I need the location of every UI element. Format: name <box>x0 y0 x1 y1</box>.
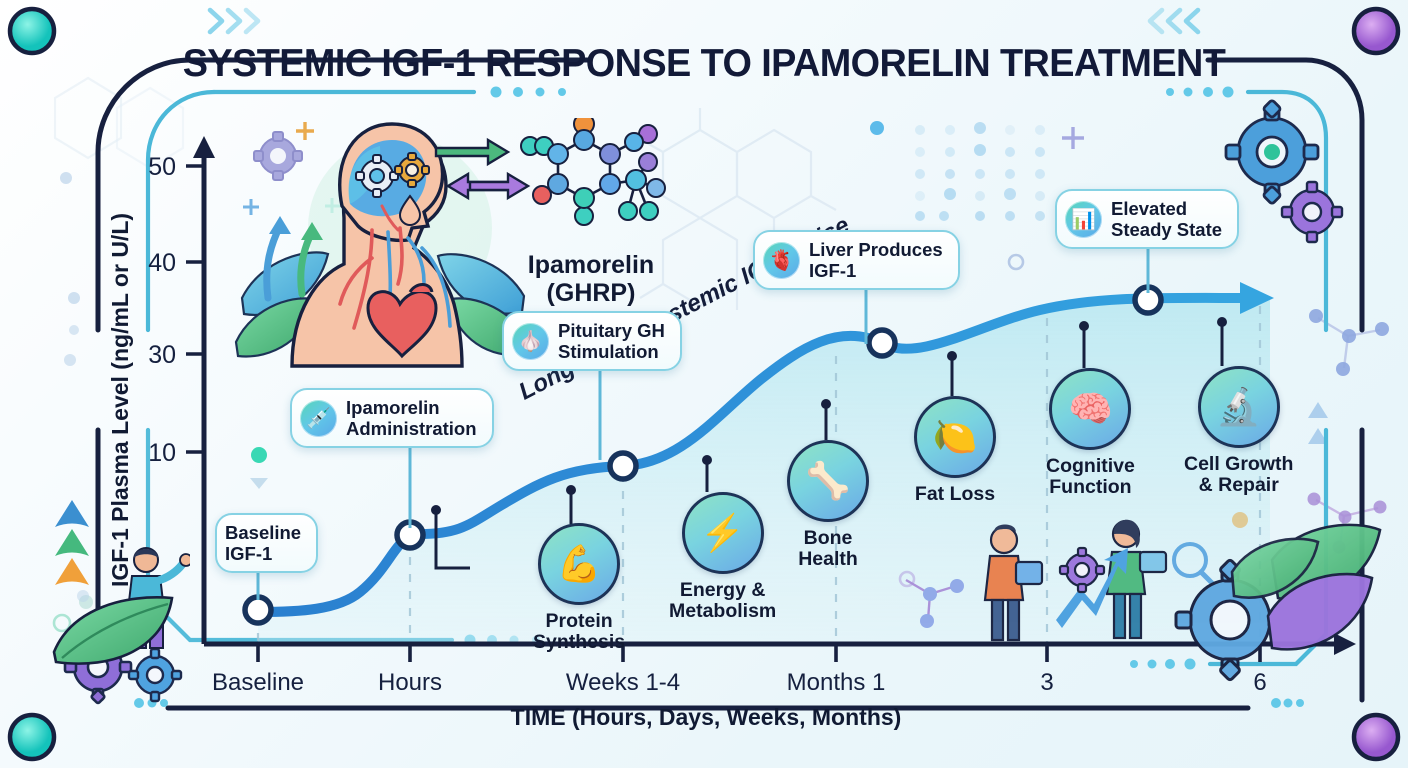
energy-icon: ⚡ <box>682 492 764 574</box>
pituitary-icon: 🧄 <box>512 323 549 360</box>
benefit-label: Cell Growth & Repair <box>1184 454 1293 497</box>
y-tick-label-0: 50 <box>148 153 176 181</box>
curve-marker-baseline <box>245 597 271 623</box>
muscle-icon: 💪 <box>538 523 620 605</box>
callout-liver-igf1[interactable]: 🫀 Liver Produces IGF-1 <box>753 230 960 290</box>
y-axis-title: IGF-1 Plasma Level (ng/mL or U/L) <box>107 213 133 587</box>
callout-pituitary-gh[interactable]: 🧄 Pituitary GH Stimulation <box>502 311 682 371</box>
callout-label: Baseline IGF-1 <box>225 522 301 564</box>
benefit-label: Protein Synthesis <box>533 611 625 654</box>
callout-label: Ipamorelin Administration <box>346 397 477 439</box>
benefit-protein-synthesis[interactable]: 💪 Protein Synthesis <box>533 523 625 654</box>
y-tick-marks <box>186 166 204 452</box>
x-tick-label-0: Baseline <box>212 669 304 696</box>
benefit-label: Bone Health <box>798 528 858 571</box>
benefit-label: Energy & Metabolism <box>669 580 776 623</box>
x-axis-arrow <box>1334 633 1356 655</box>
y-tick-label-3: 10 <box>148 439 176 467</box>
liver-icon: 🫀 <box>763 242 800 279</box>
y-tick-label-2: 30 <box>148 341 176 369</box>
x-tick-label-1: Hours <box>378 669 442 696</box>
benefit-cell-growth[interactable]: 🔬 Cell Growth & Repair <box>1184 366 1293 497</box>
x-tick-label-4: 3 <box>1040 669 1053 696</box>
callout-label: Liver Produces IGF-1 <box>809 239 943 281</box>
callout-label: Elevated Steady State <box>1111 198 1222 240</box>
benefit-label: Fat Loss <box>915 484 995 505</box>
benefit-cognitive-function[interactable]: 🧠 Cognitive Function <box>1046 368 1135 499</box>
x-tick-label-2: Weeks 1-4 <box>566 669 680 696</box>
cells-icon: 🔬 <box>1198 366 1280 448</box>
infographic-canvas: SYSTEMIC IGF-1 RESPONSE TO IPAMORELIN TR… <box>0 0 1408 768</box>
y-tick-label-1: 40 <box>148 249 176 277</box>
callout-baseline-igf1[interactable]: Baseline IGF-1 <box>215 513 318 573</box>
brain-icon: 🧠 <box>1049 368 1131 450</box>
curve-marker-months1 <box>869 330 895 356</box>
benefit-label: Cognitive Function <box>1046 456 1135 499</box>
molecule-icon <box>496 118 686 244</box>
ipamorelin-molecule-block: Ipamorelin (GHRP) <box>496 118 686 307</box>
human-anatomy-illustration <box>232 98 532 368</box>
y-axis-arrow <box>193 136 215 158</box>
callout-steady-state[interactable]: 📊 Elevated Steady State <box>1055 189 1239 249</box>
x-axis-title: TIME (Hours, Days, Weeks, Months) <box>511 704 902 730</box>
curve-marker-weeks <box>610 453 636 479</box>
benefit-fat-loss[interactable]: 🍋 Fat Loss <box>914 396 996 505</box>
callout-ipamorelin-admin[interactable]: 💉 Ipamorelin Administration <box>290 388 494 448</box>
callout-label: Pituitary GH Stimulation <box>558 320 665 362</box>
bone-icon: 🦴 <box>787 440 869 522</box>
x-tick-label-3: Months 1 <box>787 669 886 696</box>
x-tick-label-5: 6 <box>1253 669 1266 696</box>
x-tick-marks <box>258 644 1260 662</box>
ipamorelin-label: Ipamorelin (GHRP) <box>496 251 686 307</box>
fat-icon: 🍋 <box>914 396 996 478</box>
benefit-bone-health[interactable]: 🦴 Bone Health <box>787 440 869 571</box>
syringe-icon: 💉 <box>300 400 337 437</box>
bar-chart-icon: 📊 <box>1065 201 1102 238</box>
benefit-energy-metabolism[interactable]: ⚡ Energy & Metabolism <box>669 492 776 623</box>
